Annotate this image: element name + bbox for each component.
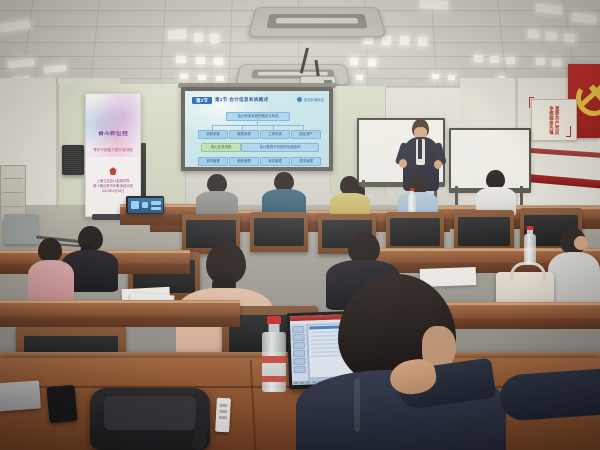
slide-node-r1-2: 工资系统 (260, 130, 290, 139)
projection-screen: 第2节 第2节 会计信息系统概述 用友新道科技 会计信息系统的概念与构成 总账系… (181, 87, 333, 171)
closed-laptop (0, 380, 41, 411)
ceiling-light (196, 57, 205, 64)
water-bottle-foreground (262, 316, 286, 392)
ceiling-light (490, 56, 499, 63)
ceiling-light (214, 58, 223, 65)
ceiling-cassette-ac-front (247, 7, 386, 37)
desk-monitor-display (126, 196, 164, 214)
presentation-remote-clicker[interactable] (215, 398, 231, 433)
slide-node-r2-3: 成本管理 (291, 157, 321, 166)
slide-node-r1-1: 报表系统 (229, 130, 259, 139)
water-bottle-right (524, 226, 536, 264)
ceiling-light (168, 30, 186, 40)
banner-subtitle: 青年干部能力提升培训班 (89, 148, 137, 153)
ceiling-light (448, 75, 455, 80)
ceiling-light (382, 36, 391, 45)
slide-node-r1-0: 总账系统 (198, 130, 228, 139)
black-backpack (90, 388, 210, 450)
slide-vendor-logo: 用友新道科技 (297, 97, 324, 102)
ceiling-light (210, 34, 219, 43)
ceiling-light (432, 74, 439, 79)
logo-dot-icon (297, 97, 302, 102)
ceiling-light (180, 74, 188, 79)
slide-node-r2-0: 采购管理 (198, 157, 228, 166)
right-person-forearm (499, 368, 600, 422)
projected-slide: 第2节 第2节 会计信息系统概述 用友新道科技 会计信息系统的概念与构成 总账系… (185, 91, 329, 167)
party-slogan-plaque: 争做服务先锋 我是共产党员 (531, 99, 577, 141)
slogan-line-2: 争做服务先锋 (549, 106, 554, 135)
slogan-line-1: 我是共产党员 (555, 106, 560, 135)
presenter-hand-left (399, 159, 407, 168)
presenter-hand-right (434, 160, 442, 169)
slide-node-r2-2: 库存管理 (260, 157, 290, 166)
ceiling-light (356, 75, 363, 80)
ceiling-light (564, 33, 576, 42)
slide-vendor-name: 用友新道科技 (304, 97, 324, 102)
slide-title: 第2节 会计信息系统概述 (215, 97, 268, 103)
wall-speaker (62, 145, 84, 175)
handbag-handle (510, 262, 546, 281)
presenter-tie (418, 139, 422, 159)
foreground-collar-placket (354, 378, 360, 432)
ceiling-light (194, 33, 203, 42)
lecture-desk-row (0, 300, 240, 317)
banner-org-lines: 上海立信会计金融学院 第十期优秀青年教师培训班 2023年4月18日 (90, 179, 135, 194)
attendee-face (574, 236, 588, 250)
slide-node-r2-1: 销售管理 (229, 157, 259, 166)
slide-node-r1-3: 固定资产 (291, 130, 321, 139)
ceiling-light (418, 37, 427, 46)
ceiling-light (474, 55, 483, 62)
banner-emblem-icon (110, 167, 117, 175)
ceiling-light (546, 31, 558, 40)
attendee-yellow-top-row2 (330, 176, 370, 218)
attendee-white-shirt-row2 (476, 170, 516, 214)
attendee-pink-sleeve-left (28, 238, 74, 304)
banner-headline: 奋斗新征程 (90, 131, 135, 138)
smartphone (46, 385, 77, 423)
ceiling-light (506, 57, 515, 64)
slide-highlight-right: 会计核算子系统的功能结构 (241, 143, 319, 152)
ceiling-light (536, 58, 545, 65)
ceiling-light (400, 36, 409, 45)
ceiling-light (216, 76, 224, 81)
ceiling-light (176, 56, 186, 63)
ceiling-light (552, 59, 561, 66)
slide-highlight-left: 核心业务流程 (201, 143, 241, 152)
classroom-photo-scene: 争做服务先锋 我是共产党员 第2节 第2节 会计信息系统概述 用友新道科技 会计… (0, 0, 600, 450)
water-bottle-right (408, 188, 416, 214)
ceiling-light (368, 59, 376, 66)
attendee-torso (548, 252, 600, 308)
slide-section-badge: 第2节 (192, 97, 212, 104)
ceiling-light (350, 58, 358, 65)
slide-top-node: 会计信息系统的概念与构成 (226, 112, 290, 121)
ceiling-light (528, 29, 540, 38)
ceiling-light (198, 75, 206, 80)
attendee-head (38, 238, 62, 262)
attendee-gray-top-right (548, 228, 600, 306)
banner-org-line-3: 2023年4月18日 (90, 189, 135, 194)
wooden-classroom-chair (454, 210, 514, 252)
attendee-gray-shirt-row2 (196, 174, 238, 216)
